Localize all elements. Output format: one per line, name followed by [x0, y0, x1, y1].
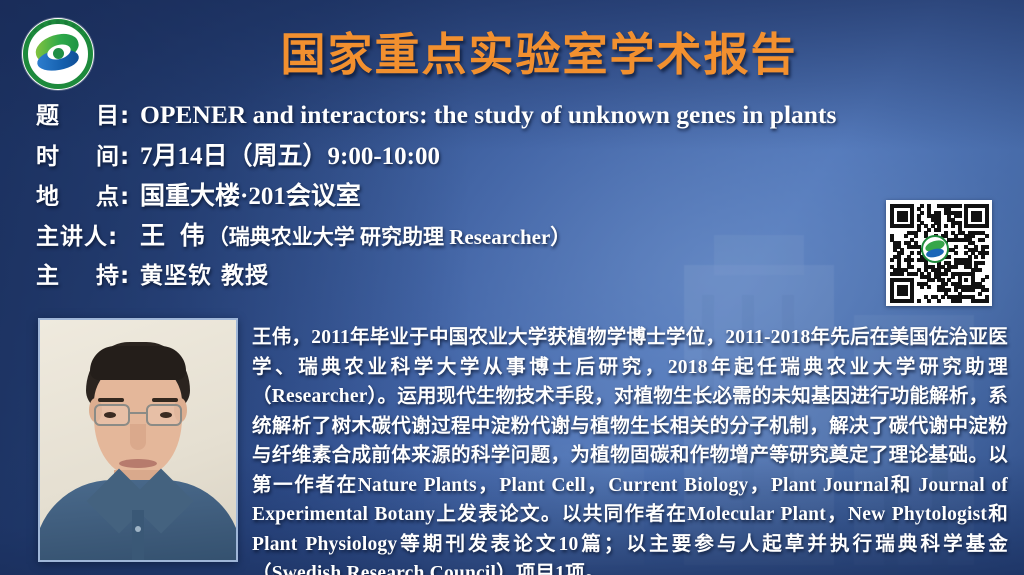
- info-label-time: 时 间:: [36, 137, 140, 171]
- info-label-topic: 题 目:: [36, 96, 140, 130]
- speaker-bio: 王伟，2011年毕业于中国农业大学获植物学博士学位，2011-2018年先后在美…: [252, 322, 1008, 575]
- poster-title: 国家重点实验室学术报告: [0, 18, 1024, 83]
- info-value-time: 7月14日（周五）9:00-10:00: [140, 136, 440, 172]
- info-block: 题 目: OPENER and interactors: the study o…: [36, 96, 996, 296]
- info-value-speaker-affiliation: （瑞典农业大学 研究助理 Researcher）: [208, 221, 572, 251]
- speaker-bio-text: ，2011年毕业于中国农业大学获植物学博士学位，2011-2018年先后在美国佐…: [252, 327, 1008, 575]
- info-value-topic: OPENER and interactors: the study of unk…: [140, 100, 836, 130]
- seminar-poster: 国家重点实验室学术报告 题 目: OPENER and interactors:…: [0, 0, 1024, 575]
- info-value-location: 国重大楼·201会议室: [140, 176, 361, 212]
- speaker-photo: [38, 318, 238, 562]
- speaker-bio-name: 王伟: [252, 325, 292, 348]
- qr-code[interactable]: [886, 200, 992, 306]
- info-label-host: 主 持:: [36, 256, 140, 290]
- info-row-location: 地 点: 国重大楼·201会议室: [36, 176, 996, 216]
- info-row-speaker: 主讲人: 王 伟 （瑞典农业大学 研究助理 Researcher）: [36, 216, 996, 256]
- info-row-host: 主 持: 黄坚钦 教授: [36, 256, 996, 296]
- info-label-location: 地 点:: [36, 177, 140, 211]
- info-row-time: 时 间: 7月14日（周五）9:00-10:00: [36, 136, 996, 176]
- info-row-topic: 题 目: OPENER and interactors: the study o…: [36, 96, 996, 136]
- info-label-speaker: 主讲人:: [36, 217, 140, 251]
- qr-center-logo-icon: [921, 235, 949, 263]
- info-value-speaker-name: 王 伟: [140, 216, 208, 252]
- info-value-host: 黄坚钦 教授: [140, 256, 269, 290]
